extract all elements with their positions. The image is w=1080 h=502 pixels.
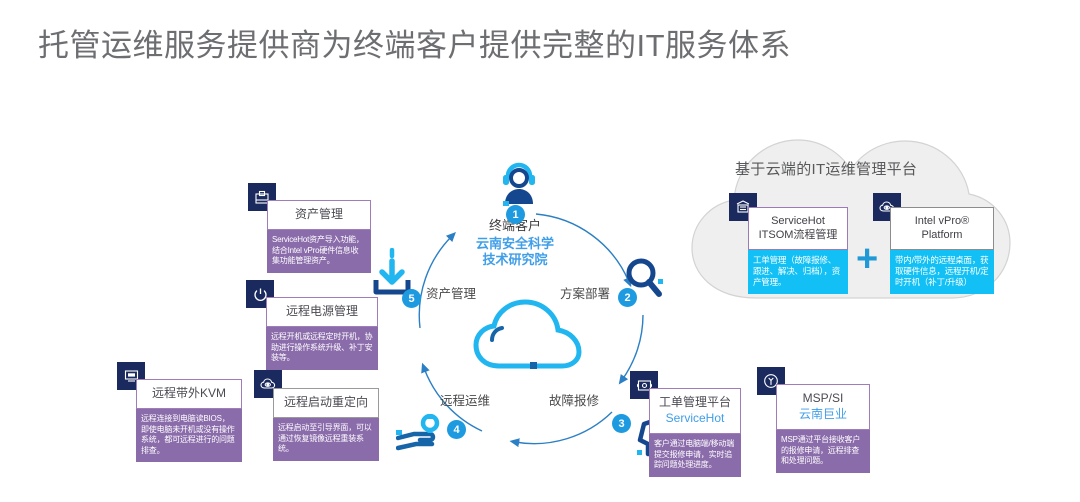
hand-gear-icon [396,414,446,458]
cycle-center-org-line1: 云南安全科学 [455,236,575,252]
page-title: 托管运维服务提供商为终端客户提供完整的IT服务体系 [38,26,791,66]
platform-intel-vpro[interactable]: Intel vPro® Platform 带内/带外的远程桌面，获取硬件信息，远… [890,207,994,294]
card-ticket-platform-detail: 客户通过电脑端/移动端提交报修申请，实时追踪问题处理进度。 [649,434,741,477]
card-ticket-platform-title: 工单管理平台 ServiceHot [649,388,741,434]
cycle-step-5-label: 资产管理 [426,283,476,302]
card-asset-management[interactable]: 资产管理 ServiceHot资产导入功能，结合Intel vPro硬件信息收集… [267,200,371,273]
cycle-step-2-label: 方案部署 [560,283,610,302]
card-remote-power-title: 远程电源管理 [266,297,378,327]
card-remote-boot-redirect[interactable]: 远程启动重定向 远程启动至引导界面，可以通过恢复镜像远程重装系统。 [273,388,379,461]
cycle-step-3-label: 故障报修 [549,390,599,409]
card-msp-si-subtitle: 云南巨业 [781,407,865,422]
card-remote-boot-redirect-detail: 远程启动至引导界面，可以通过恢复镜像远程重装系统。 [273,418,379,461]
plus-icon: + [856,240,878,278]
card-remote-power[interactable]: 远程电源管理 远程开机或远程定时开机，协助进行操作系统升级、补丁安装等。 [266,297,378,370]
slide-canvas: 托管运维服务提供商为终端客户提供完整的IT服务体系 基于云端的IT运维管理平台 … [0,0,1080,502]
cycle-step-2-number[interactable]: 2 [618,288,637,307]
card-ticket-platform-subtitle: ServiceHot [654,411,736,426]
cycle-step-3-number[interactable]: 3 [612,414,631,433]
card-remote-power-detail: 远程开机或远程定时开机，协助进行操作系统升级、补丁安装等。 [266,327,378,370]
cycle-step-4-number[interactable]: 4 [447,420,466,439]
card-remote-kvm[interactable]: 远程带外KVM 远程连接到电脑读BIOS，即使电脑未开机或没有操作系统，都可远程… [136,379,242,462]
platform-intel-vpro-title: Intel vPro® Platform [890,207,994,250]
person-headset-icon [498,160,540,206]
card-asset-management-detail: ServiceHot资产导入功能，结合Intel vPro硬件信息收集功能管理资… [267,230,371,273]
card-remote-kvm-title: 远程带外KVM [136,379,242,409]
card-ticket-platform[interactable]: 工单管理平台 ServiceHot 客户通过电脑端/移动端提交报修申请，实时追踪… [649,388,741,477]
cloud-platform-title: 基于云端的IT运维管理平台 [735,158,917,179]
platform-servicehot-detail: 工单管理（故障报修、跟进、解决、归档），资产管理。 [748,250,848,294]
platform-servicehot[interactable]: ServiceHot ITSOM流程管理 工单管理（故障报修、跟进、解决、归档）… [748,207,848,294]
card-msp-si-detail: MSP通过平台接收客户的报修申请，远程排查和处理问题。 [776,430,870,473]
card-msp-si-title: MSP/SI 云南巨业 [776,384,870,430]
cycle-step-4-label: 远程运维 [440,390,490,409]
cycle-step-5-number[interactable]: 5 [402,289,421,308]
card-asset-management-title: 资产管理 [267,200,371,230]
platform-intel-vpro-detail: 带内/带外的远程桌面，获取硬件信息，远程开机/定时开机（补丁/升级） [890,250,994,294]
cycle-center-org-line2: 技术研究院 [455,252,575,268]
card-msp-si[interactable]: MSP/SI 云南巨业 MSP通过平台接收客户的报修申请，远程排查和处理问题。 [776,384,870,473]
cycle-step-1-number[interactable]: 1 [506,205,525,224]
platform-servicehot-title: ServiceHot ITSOM流程管理 [748,207,848,250]
card-remote-kvm-detail: 远程连接到电脑读BIOS，即使电脑未开机或没有操作系统，都可远程进行的问题排查。 [136,409,242,462]
card-remote-boot-redirect-title: 远程启动重定向 [273,388,379,418]
